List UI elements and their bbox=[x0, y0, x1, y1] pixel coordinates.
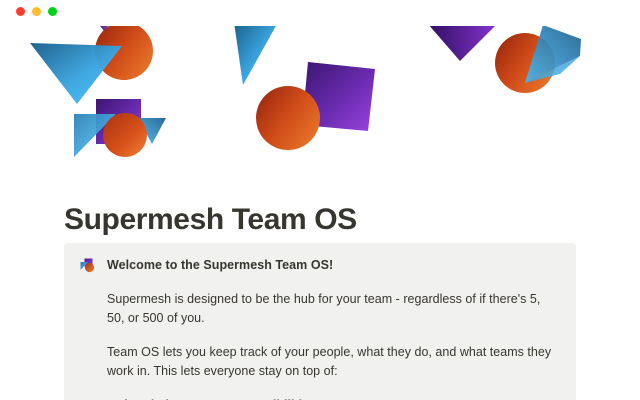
window-titlebar bbox=[0, 0, 640, 26]
cover-cluster-center bbox=[234, 22, 375, 150]
supermesh-shapes-icon bbox=[80, 258, 95, 273]
page-content: Supermesh Team OS bbox=[0, 176, 640, 400]
maximize-window-button[interactable] bbox=[48, 7, 57, 16]
callout-title: Welcome to the Supermesh Team OS! bbox=[107, 257, 333, 274]
callout-header: Welcome to the Supermesh Team OS! bbox=[80, 257, 560, 274]
callout-paragraph-1: Supermesh is designed to be the hub for … bbox=[107, 290, 560, 328]
close-window-button[interactable] bbox=[16, 7, 25, 16]
cover-cluster-left bbox=[30, 22, 166, 157]
traffic-light-buttons bbox=[16, 7, 57, 16]
minimize-window-button[interactable] bbox=[32, 7, 41, 16]
cover-image[interactable] bbox=[0, 0, 640, 176]
callout-paragraph-2: Team OS lets you keep track of your peop… bbox=[107, 343, 560, 381]
callout-body: Supermesh is designed to be the hub for … bbox=[80, 290, 560, 400]
callout-block[interactable]: Welcome to the Supermesh Team OS! Superm… bbox=[64, 243, 576, 400]
app-window: Supermesh Team OS bbox=[0, 0, 640, 400]
callout-bullet-1: - what their current responsibilities ar… bbox=[107, 396, 560, 400]
page-title[interactable]: Supermesh Team OS bbox=[64, 200, 564, 240]
cover-cluster-right bbox=[428, 24, 581, 93]
